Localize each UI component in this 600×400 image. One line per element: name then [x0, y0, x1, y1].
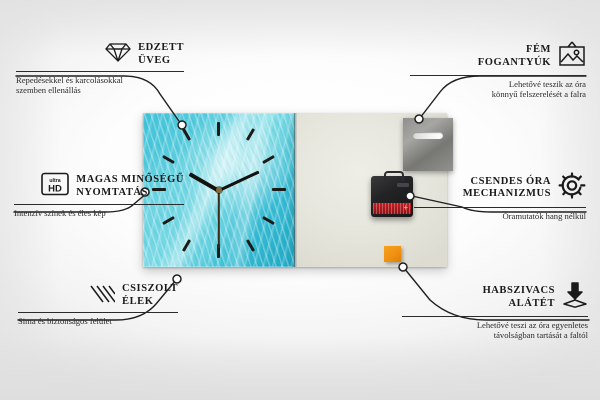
callout-tempered-glass: EDZETT ÜVEG Repedésekkel és karcolásokka… — [16, 41, 184, 96]
callout-divider — [414, 207, 586, 208]
callout-header: ultra HD MAGAS MINŐSÉGŰ NYOMTATÁS — [14, 172, 184, 201]
callout-hd-print: ultra HD MAGAS MINŐSÉGŰ NYOMTATÁS Intenz… — [14, 172, 184, 218]
ultra-hd-icon: ultra HD — [41, 172, 69, 201]
connector-endpoint — [406, 192, 414, 200]
callout-title: EDZETT ÜVEG — [138, 42, 184, 67]
callout-divider — [402, 316, 588, 317]
callout-silent-mechanism: CSENDES ÓRA MECHANIZMUS Óramutatók hang … — [414, 172, 586, 221]
callout-title: MAGAS MINŐSÉGŰ NYOMTATÁS — [76, 174, 184, 199]
callout-header: EDZETT ÜVEG — [16, 41, 184, 68]
callout-divider — [16, 71, 184, 72]
callout-divider — [18, 312, 178, 313]
callout-header: CSISZOLT ÉLEK — [18, 282, 178, 309]
gear-icon — [558, 172, 586, 204]
diamond-icon — [105, 41, 131, 68]
callout-header: FÉM FOGANTYÚK — [410, 41, 586, 72]
callout-polished-edges: CSISZOLT ÉLEK Sima és biztonságos felüle… — [18, 282, 178, 326]
callout-title: CSENDES ÓRA MECHANIZMUS — [414, 176, 551, 201]
svg-text:HD: HD — [48, 184, 62, 195]
callout-header: CSENDES ÓRA MECHANIZMUS — [414, 172, 586, 204]
callout-divider — [410, 75, 586, 76]
diagonal-lines-icon — [89, 282, 115, 309]
connector-endpoint — [399, 263, 407, 271]
framed-picture-icon — [558, 41, 586, 72]
connector-endpoint — [178, 121, 186, 129]
callout-title: CSISZOLT ÉLEK — [122, 283, 178, 308]
callout-divider — [14, 204, 184, 205]
callout-header: HABSZIVACS ALÁTÉT — [402, 282, 588, 313]
callout-foam-pad: HABSZIVACS ALÁTÉT Lehetővé teszi az óra … — [402, 282, 588, 341]
connector-endpoint — [415, 115, 423, 123]
callout-metal-hooks: FÉM FOGANTYÚK Lehetővé teszik az óra kön… — [410, 41, 586, 100]
callout-title: FÉM FOGANTYÚK — [410, 44, 551, 69]
arrow-down-pad-icon — [562, 282, 588, 313]
callout-title: HABSZIVACS ALÁTÉT — [402, 285, 555, 310]
infographic-canvas: + — [0, 0, 600, 400]
